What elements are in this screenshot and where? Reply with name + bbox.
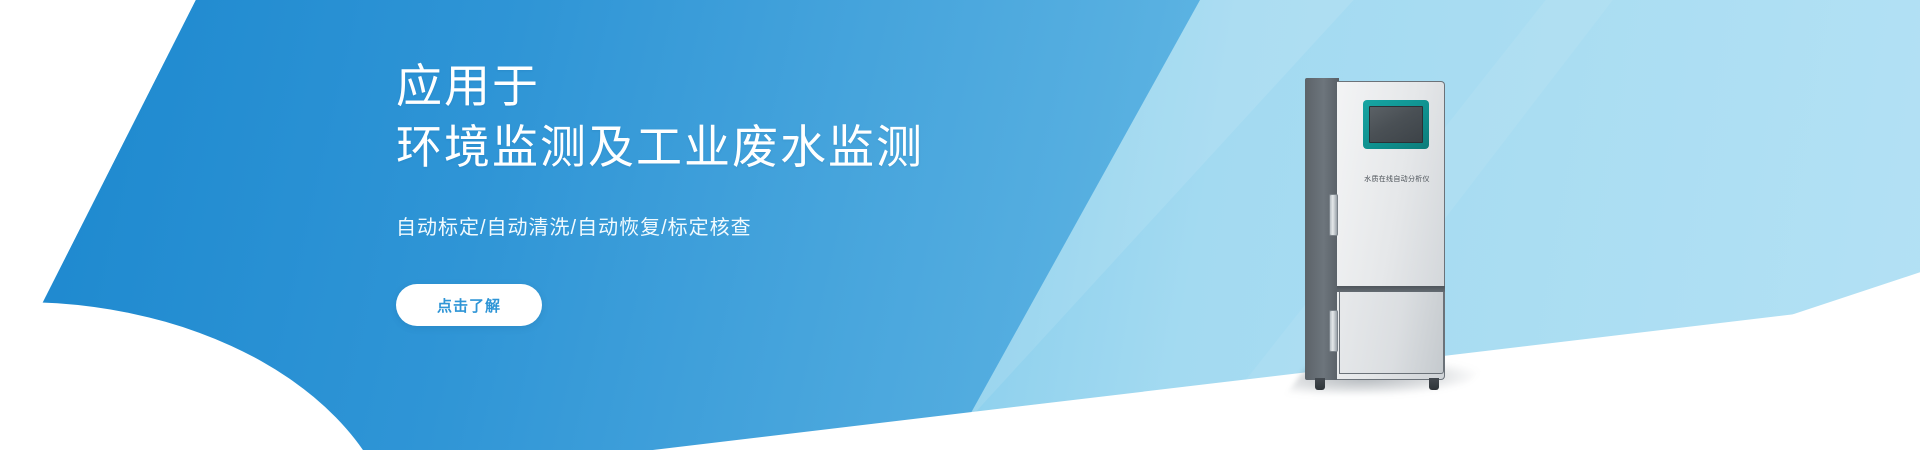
learn-more-button[interactable]: 点击了解	[396, 284, 542, 326]
device-upper-door-handle	[1329, 194, 1338, 236]
page-title: 应用于 环境监测及工业废水监测	[396, 56, 1156, 177]
product-image-water-analyzer: 水质在线自动分析仪	[1305, 78, 1447, 390]
device-display	[1369, 106, 1423, 143]
device-caster-right	[1429, 378, 1439, 390]
headline-line-1: 应用于	[396, 56, 1156, 117]
device-screen-bezel	[1363, 100, 1429, 149]
device-nameplate: 水质在线自动分析仪	[1351, 174, 1443, 184]
hero-banner: 应用于 环境监测及工业废水监测 自动标定/自动清洗/自动恢复/标定核查 点击了解…	[0, 0, 1920, 450]
hero-copy: 应用于 环境监测及工业废水监测 自动标定/自动清洗/自动恢复/标定核查 点击了解	[396, 56, 1156, 326]
device-caster-left	[1315, 378, 1325, 390]
device-lower-cabinet	[1339, 292, 1444, 374]
device-lower-door-handle	[1329, 310, 1338, 352]
headline-line-2: 环境监测及工业废水监测	[396, 117, 1156, 178]
hero-subtitle: 自动标定/自动清洗/自动恢复/标定核查	[396, 211, 1156, 240]
